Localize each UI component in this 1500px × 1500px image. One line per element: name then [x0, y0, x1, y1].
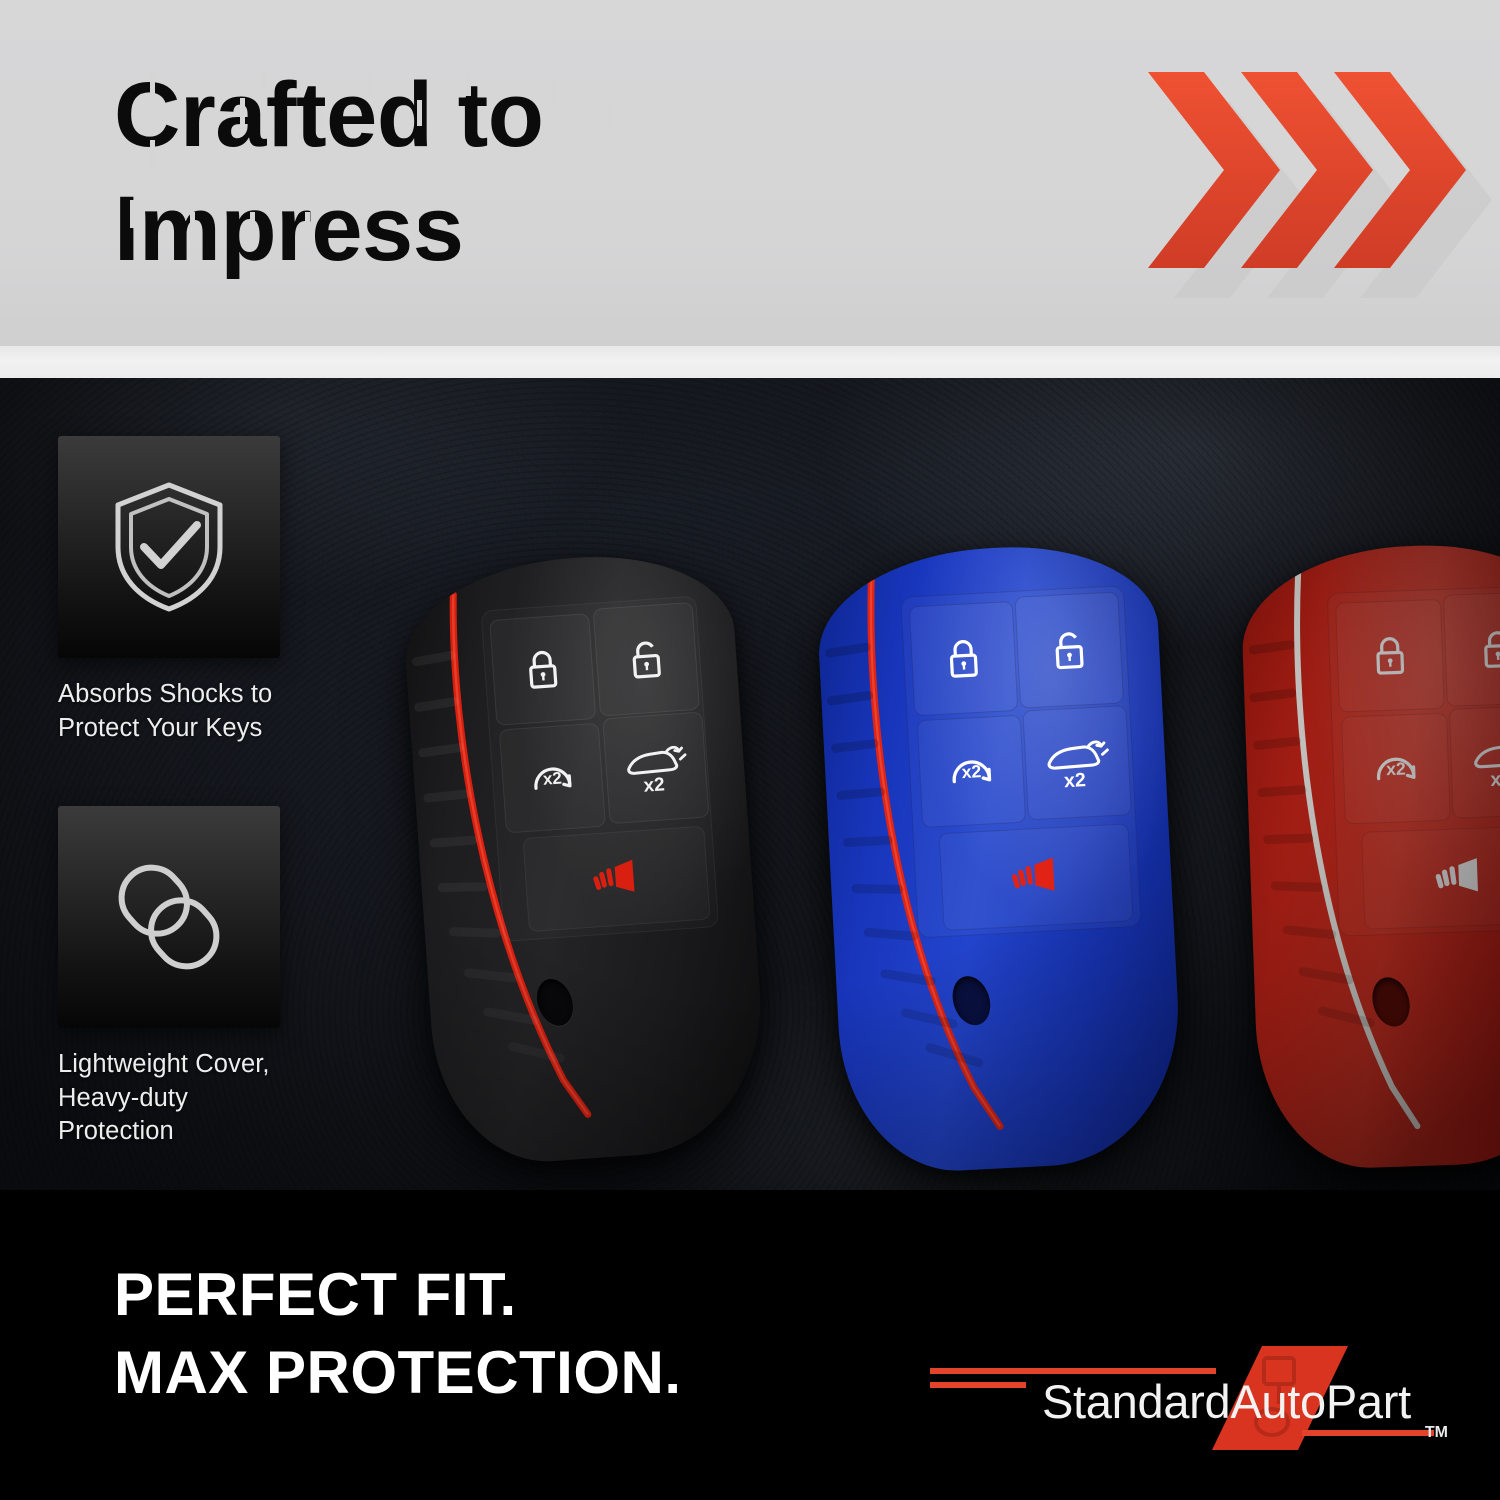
feature-absorbs-shocks: Absorbs Shocks to Protect Your Keys [58, 436, 280, 745]
logo-accent-line-right [1302, 1430, 1434, 1436]
footer-band: PERFECT FIT. MAX PROTECTION. StandardAut… [0, 1190, 1500, 1500]
chevron-right-icon [1334, 72, 1466, 268]
feature-lightweight-cover: Lightweight Cover, Heavy-duty Protection [58, 806, 280, 1149]
brand-logo: StandardAutoPart TM [930, 1342, 1450, 1454]
logo-accent-line-bottom [930, 1382, 1026, 1388]
feature-icon-tile [58, 436, 280, 658]
chevron-group [1148, 72, 1468, 302]
feature-icon-tile [58, 806, 280, 1028]
header-band: Crafted to Impress [0, 0, 1500, 346]
product-marketing-image: Crafted to Impress [0, 0, 1500, 1500]
feature-caption: Absorbs Shocks to Protect Your Keys [58, 678, 280, 745]
page-title: Crafted to Impress [114, 58, 834, 286]
shield-check-icon [106, 477, 232, 617]
feature-caption: Lightweight Cover, Heavy-duty Protection [58, 1048, 280, 1149]
chain-link-icon [99, 847, 239, 987]
header-divider [0, 346, 1500, 378]
footer-headline: PERFECT FIT. MAX PROTECTION. [114, 1256, 682, 1412]
trademark-symbol: TM [1425, 1424, 1448, 1442]
product-photo: x2 x2 [0, 378, 1500, 1190]
brand-name: StandardAutoPart [1042, 1374, 1411, 1429]
